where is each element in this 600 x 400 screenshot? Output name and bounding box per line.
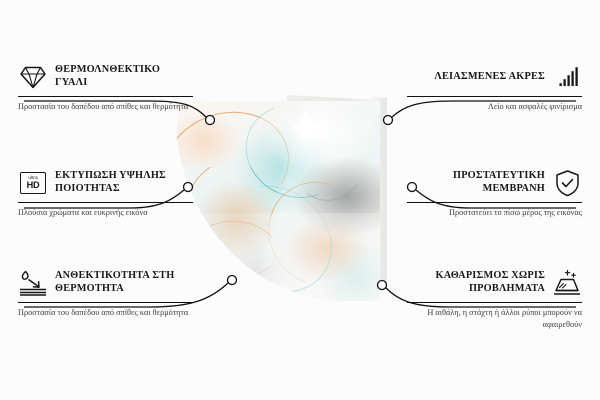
easy-cleaning-icon <box>552 268 582 298</box>
glass-front-panel <box>175 101 380 301</box>
feature-description: Προστατεύει το πίσω μέρος της εικόνας <box>407 207 582 219</box>
diamond-icon <box>18 62 48 92</box>
feature-title: ΕΚΤΥΠΩΣΗ ΥΨΗΛΗΣ ΠΟΙΟΤΗΤΑΣ <box>55 170 193 196</box>
feature-block-protective-membrane[interactable]: ΠΡΟΣΤΑΤΕΥΤΙΚΗ ΜΕΜΒΡΑΝΗ Προστατεύει το πί… <box>407 168 582 219</box>
feature-divider <box>407 302 582 303</box>
polished-edges-icon <box>552 62 582 92</box>
feature-divider <box>407 202 582 203</box>
feature-title: ΑΝΘΕΚΤΙΚΟΤΗΤΑ ΣΤΗ ΘΕΡΜΟΤΗΤΑ <box>55 270 193 296</box>
feature-divider <box>18 96 193 97</box>
feature-description: Προστασία του δαπέδου από σπίθες και θερ… <box>18 307 193 319</box>
feature-description: Πλούσια χρώματα και ευκρινής εικόνα <box>18 207 193 219</box>
feature-title: ΘΕΡΜΟΛΝΘΕΚΤΙΚΟ ΓΥΑΛΙ <box>55 64 193 90</box>
feature-divider <box>407 96 582 97</box>
hd-badge-large-label: HD <box>27 181 40 190</box>
shield-check-icon <box>552 168 582 198</box>
feature-title: ΚΑΘΑΡΙΣΜΟΣ ΧΩΡΙΣ ΠΡΟΒΛΗΜΑΤΑ <box>407 270 545 296</box>
feature-divider <box>18 202 193 203</box>
feature-description: Λείο και ασφαλές φινίρισμα <box>407 101 582 113</box>
feature-block-heat-resistant-glass[interactable]: ΘΕΡΜΟΛΝΘΕΚΤΙΚΟ ΓΥΑΛΙ Προστασία του δαπέδ… <box>18 62 193 113</box>
feature-title: ΠΡΟΣΤΑΤΕΥΤΙΚΗ ΜΕΜΒΡΑΝΗ <box>407 170 545 196</box>
feature-divider <box>18 302 193 303</box>
heat-resistance-icon <box>18 268 48 298</box>
glass-sparkle-icon <box>293 115 319 141</box>
infographic-canvas: ΘΕΡΜΟΛΝΘΕΚΤΙΚΟ ΓΥΑΛΙ Προστασία του δαπέδ… <box>0 0 600 400</box>
product-image <box>175 95 415 310</box>
feature-title: ΛΕΙΑΣΜΕΝΕΣ ΑΚΡΕΣ <box>434 71 545 84</box>
ultra-hd-badge-icon: ultra HD <box>18 168 48 198</box>
feature-description: Προστασία του δαπέδου από σπίθες και θερ… <box>18 101 193 113</box>
feature-description: Η αιθάλη, η στάχτη ή άλλοι ρύποι μπορούν… <box>407 307 582 331</box>
feature-block-polished-edges[interactable]: ΛΕΙΑΣΜΕΝΕΣ ΑΚΡΕΣ Λείο και ασφαλές φινίρι… <box>407 62 582 113</box>
feature-block-high-quality-print[interactable]: ultra HD ΕΚΤΥΠΩΣΗ ΥΨΗΛΗΣ ΠΟΙΟΤΗΤΑΣ Πλούσ… <box>18 168 193 219</box>
feature-block-easy-cleaning[interactable]: ΚΑΘΑΡΙΣΜΟΣ ΧΩΡΙΣ ΠΡΟΒΛΗΜΑΤΑ Η αιθάλη, η … <box>407 268 582 331</box>
feature-block-heat-durability[interactable]: ΑΝΘΕΚΤΙΚΟΤΗΤΑ ΣΤΗ ΘΕΡΜΟΤΗΤΑ Προστασία το… <box>18 268 193 319</box>
